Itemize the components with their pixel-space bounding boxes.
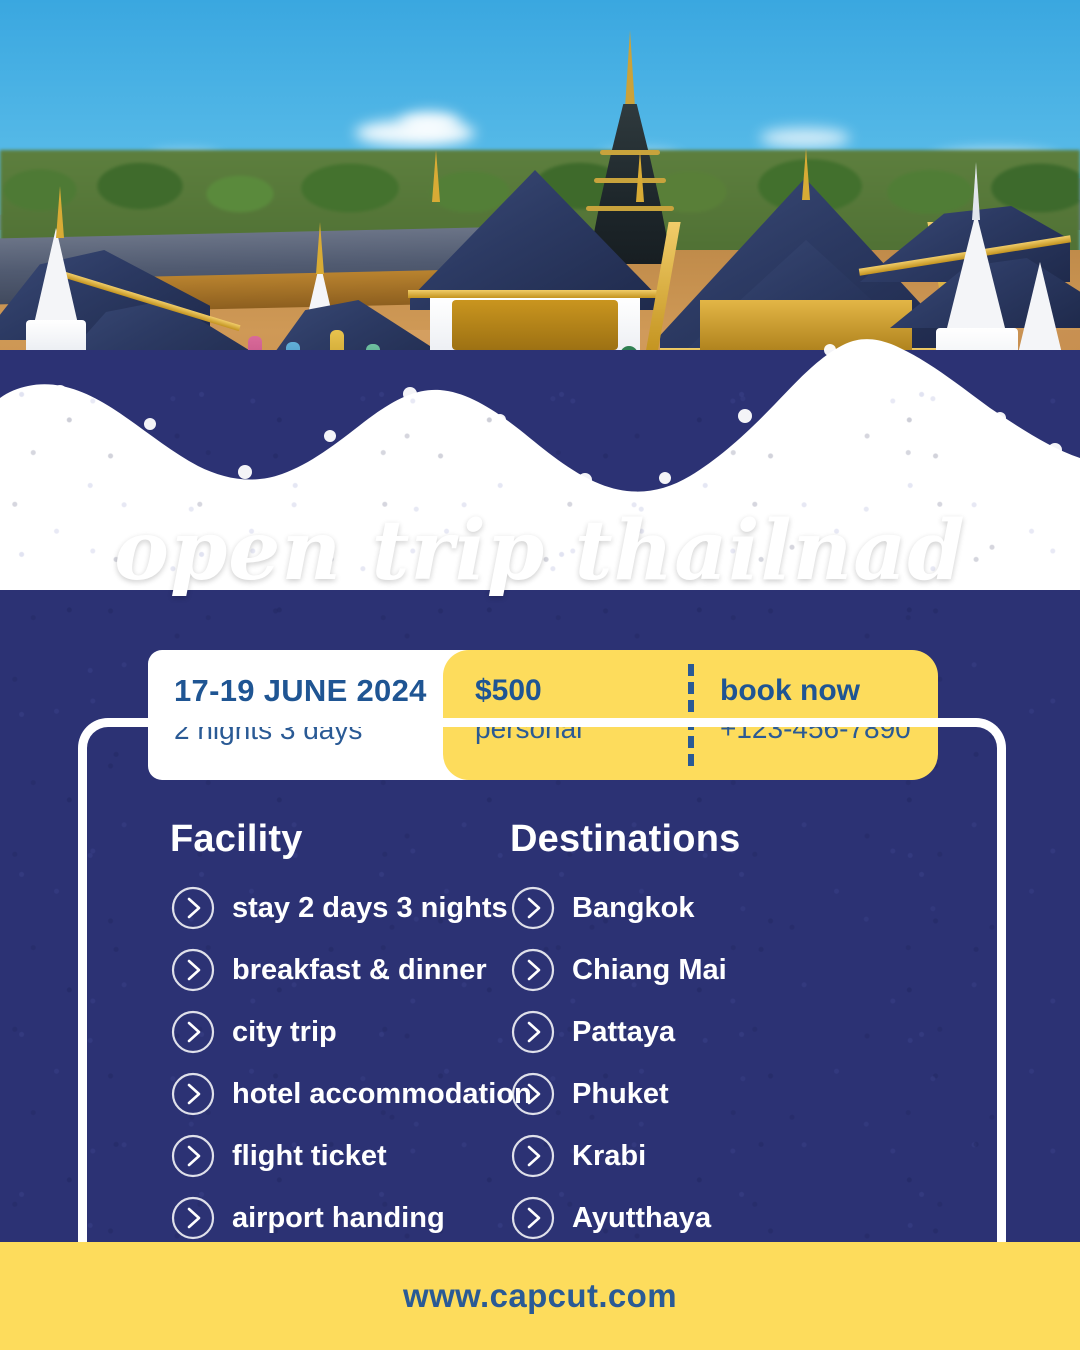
list-item[interactable]: Bangkok [510, 877, 920, 939]
list-item-label: Krabi [572, 1140, 646, 1173]
price-value: $500 [475, 674, 688, 708]
white-stupa [1016, 262, 1064, 362]
destinations-heading: Destinations [510, 818, 920, 861]
list-item-label: Phuket [572, 1078, 669, 1111]
chevron-right-circle-icon [170, 885, 216, 931]
list-item-label: Bangkok [572, 892, 694, 925]
temple-door [452, 300, 618, 350]
facility-heading: Facility [170, 818, 490, 861]
list-item-label: Ayutthaya [572, 1202, 711, 1235]
chevron-right-circle-icon [170, 1195, 216, 1241]
roof-gold-trim [408, 290, 666, 298]
chevron-right-circle-icon [170, 1071, 216, 1117]
white-pagoda [946, 212, 1006, 332]
pagoda-spire [972, 162, 980, 220]
facility-column: Facility stay 2 days 3 nights breakfast … [0, 818, 490, 1249]
gold-spire [802, 148, 810, 200]
book-now-label[interactable]: book now [720, 674, 938, 708]
list-item[interactable]: city trip [170, 1001, 490, 1063]
chevron-right-circle-icon [510, 1071, 556, 1117]
chedi-ring [586, 206, 674, 211]
lists-container: Facility stay 2 days 3 nights breakfast … [0, 818, 1080, 1249]
chedi-ring [594, 178, 666, 183]
list-item[interactable]: flight ticket [170, 1125, 490, 1187]
list-item-label: Pattaya [572, 1016, 675, 1049]
gold-spire [56, 186, 64, 238]
chevron-right-circle-icon [510, 885, 556, 931]
chevron-right-circle-icon [510, 1009, 556, 1055]
list-item[interactable]: Ayutthaya [510, 1187, 920, 1249]
chevron-right-circle-icon [170, 1133, 216, 1179]
list-item[interactable]: breakfast & dinner [170, 939, 490, 1001]
destinations-column: Destinations Bangkok Chiang Mai [490, 818, 920, 1249]
gold-spire [636, 150, 644, 202]
list-item-label: hotel accommodation [232, 1078, 532, 1111]
chedi-spire [625, 30, 635, 108]
gold-spire [316, 222, 324, 274]
list-item-label: Chiang Mai [572, 954, 727, 987]
chevron-right-circle-icon [510, 947, 556, 993]
list-item-label: breakfast & dinner [232, 954, 487, 987]
travel-poster: open trip thailnad 17-19 JUNE 2024 2 nig… [0, 0, 1080, 1350]
list-item-label: flight ticket [232, 1140, 387, 1173]
chevron-right-circle-icon [170, 1009, 216, 1055]
list-item[interactable]: Krabi [510, 1125, 920, 1187]
website-url[interactable]: www.capcut.com [403, 1277, 677, 1315]
list-item[interactable]: hotel accommodation [170, 1063, 490, 1125]
list-item[interactable]: Chiang Mai [510, 939, 920, 1001]
chedi-ring [600, 150, 660, 155]
list-item-label: city trip [232, 1016, 337, 1049]
chevron-right-circle-icon [510, 1195, 556, 1241]
list-item-label: airport handing [232, 1202, 445, 1235]
chevron-right-circle-icon [510, 1133, 556, 1179]
page-title: open trip thailnad [0, 510, 1080, 592]
white-stupa [34, 228, 78, 324]
list-item[interactable]: stay 2 days 3 nights [170, 877, 490, 939]
list-item[interactable]: airport handing [170, 1187, 490, 1249]
chevron-right-circle-icon [170, 947, 216, 993]
list-item[interactable]: Pattaya [510, 1001, 920, 1063]
list-item[interactable]: Phuket [510, 1063, 920, 1125]
gold-spire [432, 150, 440, 202]
footer-bar: www.capcut.com [0, 1242, 1080, 1350]
list-item-label: stay 2 days 3 nights [232, 892, 508, 925]
